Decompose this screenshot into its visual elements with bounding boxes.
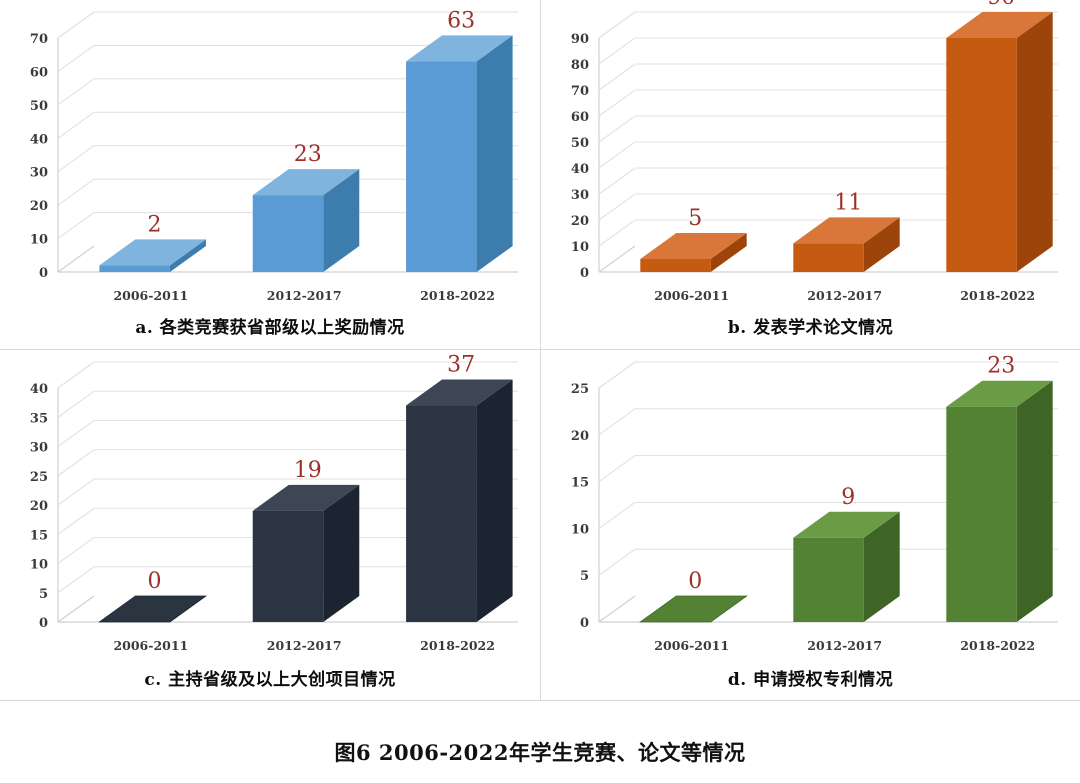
svg-text:30: 30: [30, 441, 48, 456]
svg-text:25: 25: [571, 382, 589, 397]
svg-text:60: 60: [571, 110, 589, 125]
bar-b-1: [793, 217, 899, 272]
svg-text:90: 90: [571, 32, 589, 47]
category-label-c-1: 2012-2017: [267, 638, 342, 653]
data-label-d-2: 23: [987, 354, 1015, 379]
category-label-c-2: 2018-2022: [420, 638, 495, 653]
data-label-a-0: 2: [147, 212, 161, 237]
svg-text:15: 15: [30, 528, 48, 543]
bar-c-0: [99, 596, 206, 622]
data-label-d-1: 9: [841, 485, 855, 510]
data-label-b-0: 5: [688, 206, 702, 231]
svg-text:30: 30: [571, 188, 589, 203]
svg-text:0: 0: [580, 616, 589, 631]
panel-d: 051015202502006-201192012-2017232018-202…: [541, 350, 1080, 700]
category-label-b-1: 2012-2017: [807, 288, 882, 303]
panel-b-caption: b. 发表学术论文情况: [541, 313, 1080, 338]
data-label-c-2: 37: [447, 353, 475, 378]
svg-text:0: 0: [39, 266, 48, 281]
category-label-c-0: 2006-2011: [113, 638, 188, 653]
svg-text:20: 20: [571, 429, 589, 444]
panel-c-caption: c. 主持省级及以上大创项目情况: [0, 665, 540, 690]
category-label-a-1: 2012-2017: [267, 288, 342, 303]
category-label-b-0: 2006-2011: [654, 288, 729, 303]
svg-text:35: 35: [30, 411, 48, 426]
data-label-a-1: 23: [294, 142, 322, 167]
svg-text:25: 25: [30, 470, 48, 485]
chart-d: 051015202502006-201192012-2017232018-202…: [541, 350, 1080, 660]
svg-text:40: 40: [571, 162, 589, 177]
svg-text:5: 5: [580, 569, 589, 584]
category-label-a-2: 2018-2022: [420, 288, 495, 303]
bar-a-1: [253, 169, 360, 272]
panel-a-caption: a. 各类竞赛获省部级以上奖励情况: [0, 313, 540, 338]
data-label-b-2: 90: [987, 0, 1015, 10]
svg-text:30: 30: [30, 166, 48, 181]
bar-a-0: [99, 239, 206, 272]
data-label-d-0: 0: [688, 569, 702, 594]
data-label-c-1: 19: [294, 458, 322, 483]
bar-c-2: [406, 380, 513, 622]
svg-text:10: 10: [571, 240, 589, 255]
data-label-c-0: 0: [147, 569, 161, 594]
svg-text:60: 60: [30, 65, 48, 80]
svg-text:0: 0: [580, 266, 589, 281]
panel-d-caption: d. 申请授权专利情况: [541, 665, 1080, 690]
svg-text:50: 50: [571, 136, 589, 151]
svg-text:40: 40: [30, 382, 48, 397]
svg-text:10: 10: [571, 522, 589, 537]
bar-d-1: [793, 512, 899, 622]
chart-b: 010203040506070809052006-2011112012-2017…: [541, 0, 1080, 310]
figure-page: 01020304050607022006-2011232012-20176320…: [0, 0, 1080, 783]
chart-a: 01020304050607022006-2011232012-20176320…: [0, 0, 540, 310]
svg-text:70: 70: [571, 84, 589, 99]
svg-text:10: 10: [30, 233, 48, 248]
panel-c: 051015202530354002006-2011192012-2017372…: [0, 350, 540, 700]
svg-text:50: 50: [30, 99, 48, 114]
category-label-b-2: 2018-2022: [960, 288, 1035, 303]
bar-d-0: [640, 596, 746, 622]
category-label-a-0: 2006-2011: [113, 288, 188, 303]
bar-d-2: [946, 381, 1052, 622]
svg-text:20: 20: [30, 499, 48, 514]
svg-text:40: 40: [30, 132, 48, 147]
svg-text:70: 70: [30, 32, 48, 47]
horizontal-divider-bottom: [0, 700, 1080, 701]
bar-b-2: [946, 12, 1052, 272]
svg-text:0: 0: [39, 616, 48, 631]
panel-a: 01020304050607022006-2011232012-20176320…: [0, 0, 540, 349]
category-label-d-1: 2012-2017: [807, 638, 882, 653]
figure-caption: 图6 2006-2022年学生竞赛、论文等情况: [0, 737, 1080, 767]
svg-text:20: 20: [30, 199, 48, 214]
category-label-d-0: 2006-2011: [654, 638, 729, 653]
chart-c: 051015202530354002006-2011192012-2017372…: [0, 350, 540, 660]
svg-text:80: 80: [571, 58, 589, 73]
category-label-d-2: 2018-2022: [960, 638, 1035, 653]
data-label-b-1: 11: [834, 190, 862, 215]
svg-text:5: 5: [39, 587, 48, 602]
svg-text:15: 15: [571, 476, 589, 491]
svg-text:20: 20: [571, 214, 589, 229]
bar-a-2: [406, 35, 513, 272]
panel-b: 010203040506070809052006-2011112012-2017…: [541, 0, 1080, 349]
bar-c-1: [253, 485, 360, 622]
svg-text:10: 10: [30, 558, 48, 573]
data-label-a-2: 63: [447, 8, 475, 33]
bar-b-0: [640, 233, 746, 272]
